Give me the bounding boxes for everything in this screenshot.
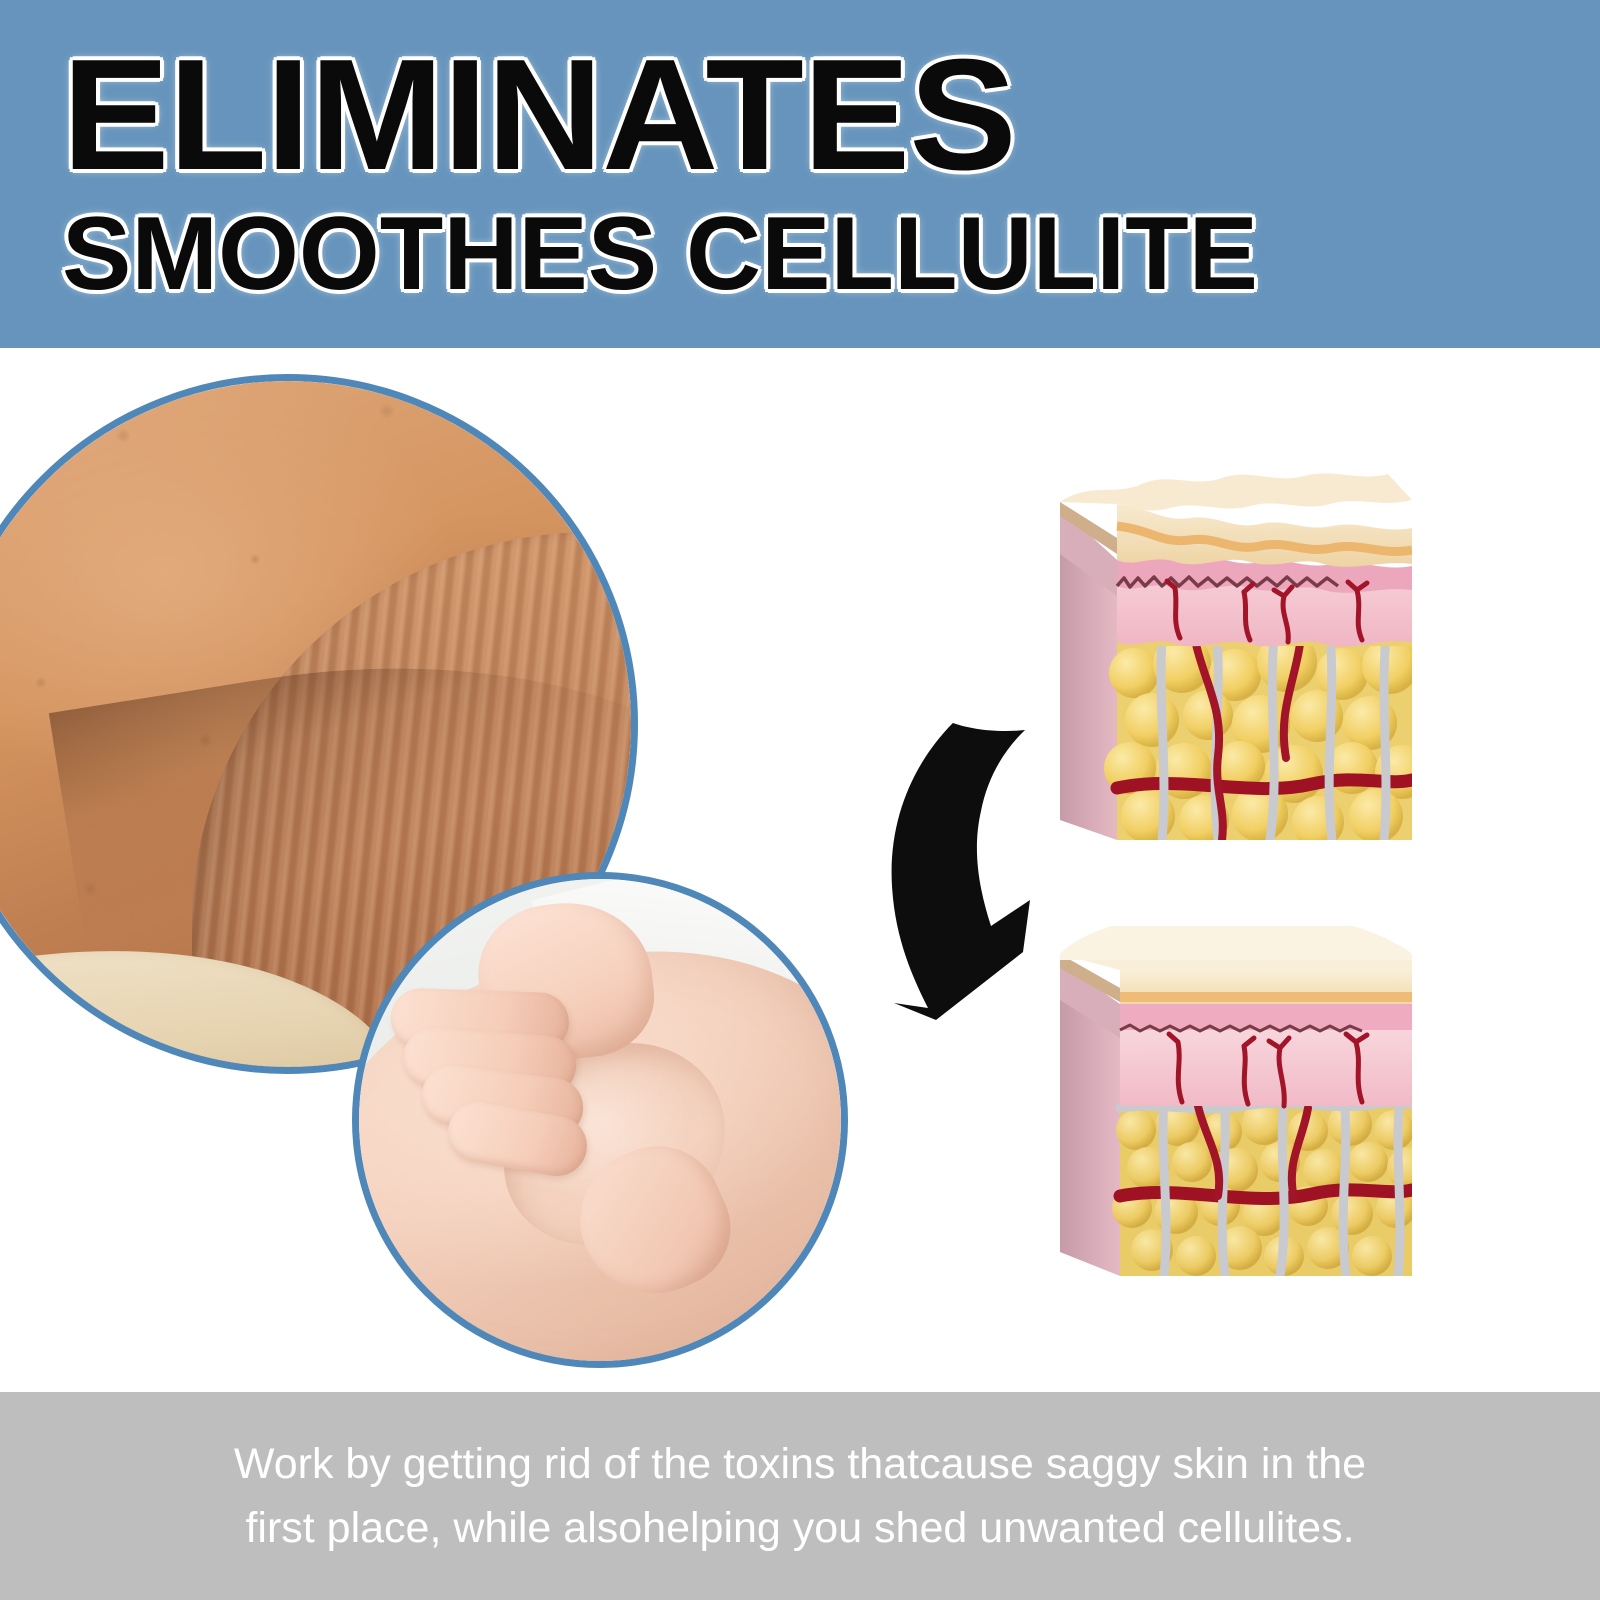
footer-band: Work by getting rid of the toxins thatca… (0, 1392, 1600, 1600)
header-band: ELIMINATES SMOOTHES CELLULITE (0, 0, 1600, 348)
headline-group: ELIMINATES SMOOTHES CELLULITE (62, 40, 1242, 310)
curved-down-arrow-icon (850, 690, 1070, 1020)
skin-cross-section-before-diagram (1012, 468, 1412, 840)
page-subtitle: SMOOTHES CELLULITE (62, 198, 1242, 310)
footer-description-line-1: Work by getting rid of the toxins thatca… (135, 1432, 1465, 1496)
hand-shape (375, 895, 671, 1182)
skin-cross-section-after-diagram (1012, 896, 1412, 1276)
footer-description: Work by getting rid of the toxins thatca… (135, 1432, 1465, 1560)
massage-pinch-photo-inner (359, 879, 841, 1361)
footer-description-line-2: first place, while alsohelping you shed … (135, 1496, 1465, 1560)
page-title: ELIMINATES (62, 40, 1266, 190)
product-feature-poster: ELIMINATES SMOOTHES CELLULITE (0, 0, 1600, 1600)
massage-pinch-photo (352, 872, 848, 1368)
pinch-illustration (359, 879, 841, 1361)
